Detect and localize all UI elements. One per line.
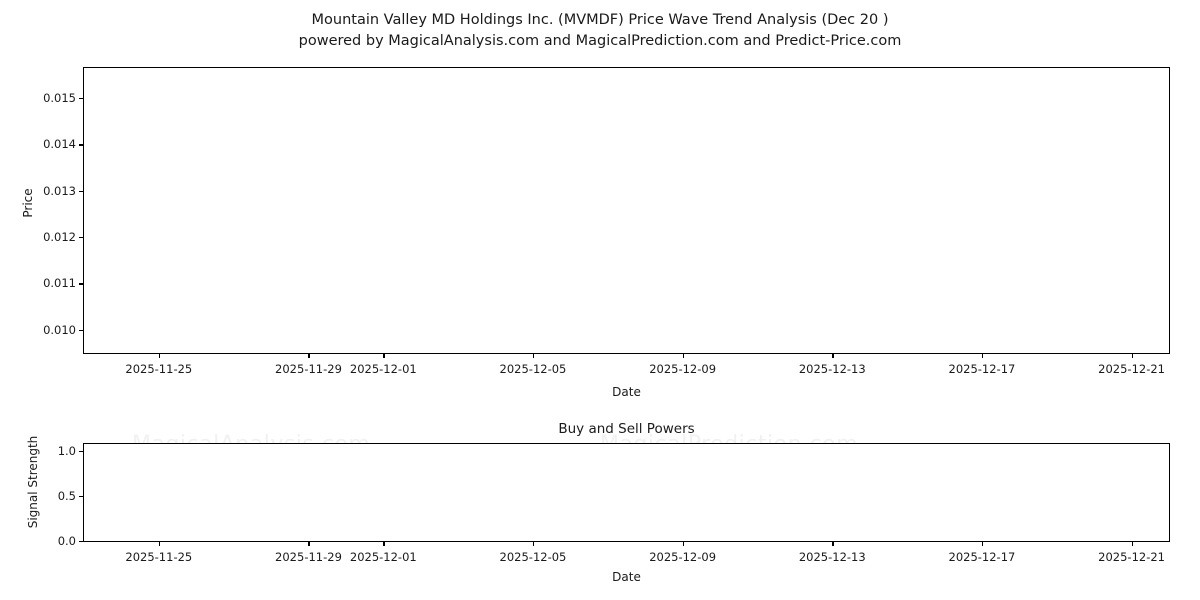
price-x-tickmark xyxy=(1132,354,1133,358)
power-panel-frame xyxy=(83,443,1170,542)
price-x-tickmark xyxy=(683,354,684,358)
power-y-tick-label: 0.0 xyxy=(34,534,76,548)
price-x-axis-label: Date xyxy=(83,385,1170,399)
power-x-axis-label: Date xyxy=(83,570,1170,584)
price-x-tickmark xyxy=(159,354,160,358)
price-x-tickmark xyxy=(308,354,309,358)
power-chart-title: Buy and Sell Powers xyxy=(83,421,1170,437)
price-y-tick-label: 0.011 xyxy=(26,276,76,290)
price-y-tick-label: 0.015 xyxy=(26,91,76,105)
power-y-tick-label: 0.5 xyxy=(34,489,76,503)
price-x-tickmark xyxy=(832,354,833,358)
power-x-tickmark xyxy=(1132,542,1133,546)
power-x-tick-label: 2025-12-09 xyxy=(649,550,716,564)
power-x-tick-label: 2025-12-21 xyxy=(1098,550,1165,564)
price-y-tick-label: 0.014 xyxy=(26,137,76,151)
price-x-tickmark xyxy=(982,354,983,358)
power-x-tickmark xyxy=(832,542,833,546)
price-x-tick-label: 2025-12-17 xyxy=(949,362,1016,376)
price-panel-frame xyxy=(83,67,1170,354)
power-x-tick-label: 2025-11-25 xyxy=(125,550,192,564)
price-x-tickmark xyxy=(533,354,534,358)
power-x-tickmark xyxy=(683,542,684,546)
price-x-tick-label: 2025-12-21 xyxy=(1098,362,1165,376)
power-x-tick-label: 2025-12-17 xyxy=(949,550,1016,564)
price-x-tick-label: 2025-11-25 xyxy=(125,362,192,376)
title-line-1: Mountain Valley MD Holdings Inc. (MVMDF)… xyxy=(0,10,1200,31)
power-x-tick-label: 2025-12-05 xyxy=(500,550,567,564)
page-title: Mountain Valley MD Holdings Inc. (MVMDF)… xyxy=(0,10,1200,52)
power-x-tickmark xyxy=(383,542,384,546)
power-x-tickmark xyxy=(533,542,534,546)
price-y-tick-label: 0.010 xyxy=(26,323,76,337)
power-x-tick-label: 2025-12-01 xyxy=(350,550,417,564)
price-x-tick-label: 2025-12-09 xyxy=(649,362,716,376)
power-x-tick-label: 2025-12-13 xyxy=(799,550,866,564)
power-y-tick-label: 1.0 xyxy=(34,444,76,458)
power-x-tickmark xyxy=(982,542,983,546)
price-x-tick-label: 2025-12-05 xyxy=(500,362,567,376)
price-x-tick-label: 2025-11-29 xyxy=(275,362,342,376)
power-x-tickmark xyxy=(159,542,160,546)
price-y-tick-label: 0.012 xyxy=(26,230,76,244)
price-x-tickmark xyxy=(383,354,384,358)
price-y-tick-label: 0.013 xyxy=(26,184,76,198)
power-x-tickmark xyxy=(308,542,309,546)
price-y-axis-label: Price xyxy=(21,173,35,233)
price-x-tick-label: 2025-12-01 xyxy=(350,362,417,376)
price-x-tick-label: 2025-12-13 xyxy=(799,362,866,376)
chart-page: Mountain Valley MD Holdings Inc. (MVMDF)… xyxy=(0,0,1200,600)
power-x-tick-label: 2025-11-29 xyxy=(275,550,342,564)
title-line-2: powered by MagicalAnalysis.com and Magic… xyxy=(0,31,1200,52)
